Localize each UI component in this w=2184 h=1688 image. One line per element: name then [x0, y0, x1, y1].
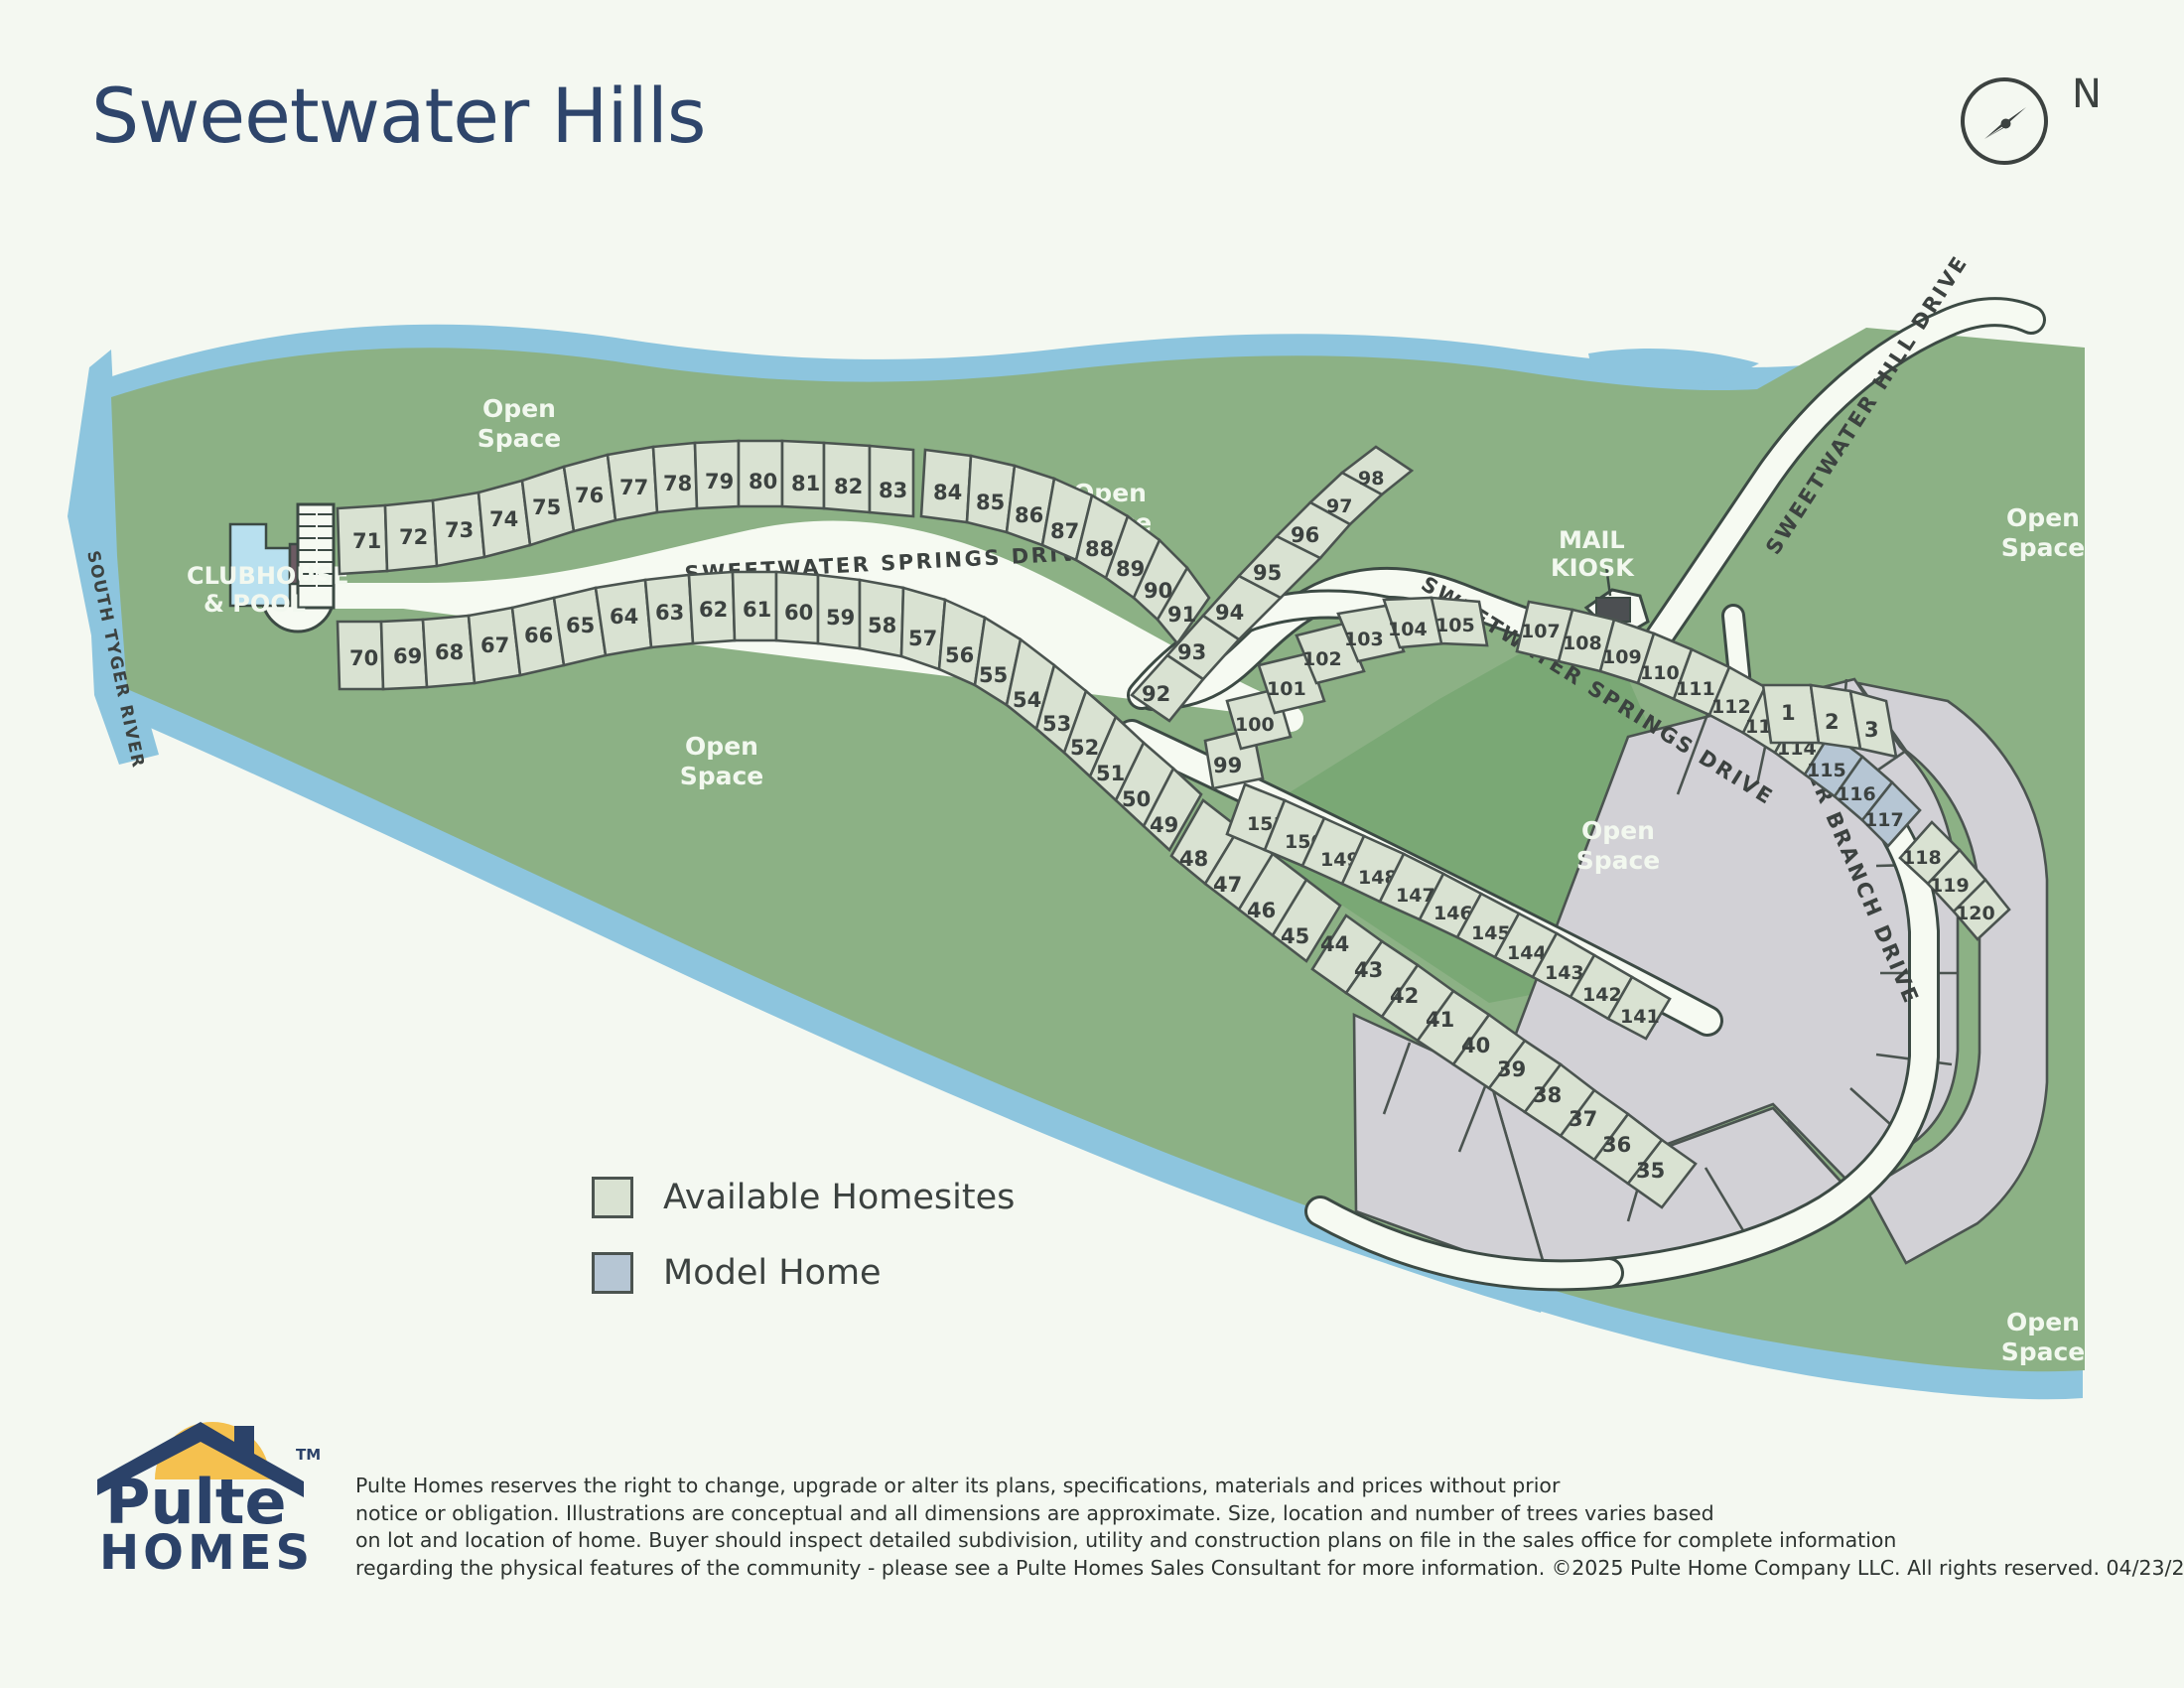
lot-label-2: 2 — [1825, 710, 1840, 734]
lot-label-67: 67 — [480, 633, 509, 657]
lot-label-44: 44 — [1320, 932, 1349, 956]
lot-label-57: 57 — [908, 627, 937, 650]
lot-label-116: 116 — [1837, 783, 1876, 805]
lot-label-65: 65 — [566, 614, 595, 637]
lot-label-58: 58 — [868, 614, 896, 637]
lot-label-95: 95 — [1253, 561, 1282, 585]
lot-label-118: 118 — [1902, 847, 1942, 869]
lot-label-46: 46 — [1247, 899, 1276, 922]
lot-label-69: 69 — [393, 644, 422, 668]
lot-label-63: 63 — [655, 601, 684, 625]
lot-label-83: 83 — [879, 479, 907, 502]
lot-label-105: 105 — [1435, 615, 1475, 636]
lot-label-59: 59 — [826, 606, 855, 630]
lot-label-70: 70 — [349, 646, 378, 670]
lot-label-48: 48 — [1179, 847, 1208, 871]
lot-label-77: 77 — [619, 476, 648, 499]
lot-label-38: 38 — [1533, 1083, 1562, 1107]
lot-label-100: 100 — [1235, 714, 1275, 736]
lot-label-61: 61 — [743, 598, 771, 622]
lot-label-115: 115 — [1807, 760, 1846, 781]
disclaimer-line-1: Pulte Homes reserves the right to change… — [355, 1473, 2132, 1500]
mail-kiosk-label-line1: MAIL — [1559, 526, 1625, 554]
lot-label-141: 141 — [1620, 1006, 1660, 1028]
lot-label-54: 54 — [1013, 688, 1041, 712]
lot-label-111: 111 — [1676, 678, 1715, 700]
logo-wordmark-homes: HOMES — [99, 1525, 314, 1576]
lot-label-71: 71 — [352, 529, 381, 553]
lot-label-109: 109 — [1602, 646, 1642, 668]
disclaimer-line-2: notice or obligation. Illustrations are … — [355, 1500, 2132, 1528]
lot-label-84: 84 — [933, 481, 962, 504]
lot-label-56: 56 — [945, 643, 974, 667]
clubhouse-label-line1: CLUBHOUSE — [187, 562, 349, 590]
lot-label-1: 1 — [1781, 701, 1796, 725]
lot-label-110: 110 — [1640, 662, 1680, 684]
lot-label-117: 117 — [1864, 809, 1904, 831]
legal-disclaimer: Pulte Homes reserves the right to change… — [355, 1473, 2132, 1582]
lot-label-76: 76 — [575, 484, 604, 507]
lot-label-51: 51 — [1096, 762, 1125, 785]
lot-label-42: 42 — [1390, 984, 1419, 1008]
open-space-label-4a: Open — [2006, 503, 2080, 532]
open-space-label-6a: Open — [2006, 1308, 2080, 1336]
lot-label-35: 35 — [1636, 1159, 1665, 1183]
lot-label-72: 72 — [399, 525, 428, 549]
lot-label-119: 119 — [1930, 875, 1970, 897]
lot-label-75: 75 — [532, 495, 561, 519]
lot-label-37: 37 — [1569, 1107, 1597, 1131]
lot-label-66: 66 — [524, 624, 553, 647]
legend-swatch-available-homesites — [592, 1177, 633, 1218]
lot-label-80: 80 — [749, 470, 777, 493]
lot-label-68: 68 — [435, 640, 464, 664]
lot-label-88: 88 — [1085, 537, 1114, 561]
lot-label-55: 55 — [979, 663, 1008, 687]
lot-label-3: 3 — [1864, 718, 1879, 742]
open-space-label-3a: Open — [685, 732, 758, 761]
lot-label-112: 112 — [1711, 696, 1751, 718]
lot-label-89: 89 — [1116, 557, 1145, 581]
legend-label-available-homesites: Available Homesites — [663, 1178, 1015, 1217]
lot-label-97: 97 — [1326, 495, 1352, 517]
lot-label-47: 47 — [1213, 873, 1242, 897]
mail-kiosk-label-line2: KIOSK — [1551, 554, 1635, 582]
open-space-label-1a: Open — [482, 394, 556, 423]
lot-label-87: 87 — [1050, 519, 1079, 543]
lot-label-93: 93 — [1177, 640, 1206, 664]
lot-label-102: 102 — [1302, 648, 1342, 670]
lot-label-36: 36 — [1602, 1133, 1631, 1157]
lot-label-99: 99 — [1213, 754, 1242, 777]
lot-label-52: 52 — [1070, 736, 1099, 760]
lot-label-73: 73 — [445, 518, 474, 542]
lot-label-96: 96 — [1291, 523, 1319, 547]
lot-label-85: 85 — [976, 491, 1005, 514]
legend-row-available: Available Homesites — [592, 1177, 1015, 1218]
lot-label-103: 103 — [1344, 629, 1384, 650]
lot-label-64: 64 — [610, 605, 638, 629]
lot-label-45: 45 — [1281, 924, 1309, 948]
lot-label-92: 92 — [1142, 682, 1170, 706]
lot-label-53: 53 — [1042, 712, 1071, 736]
open-space-label-6b: Space — [2001, 1337, 2086, 1366]
lot-label-62: 62 — [699, 598, 728, 622]
clubhouse-label-line2: & POOL — [204, 590, 306, 618]
lot-label-50: 50 — [1122, 787, 1151, 811]
lot-label-108: 108 — [1563, 633, 1602, 654]
site-map-page: Sweetwater Hills N .os-green{fill:#8cb18… — [0, 0, 2184, 1688]
lot-label-101: 101 — [1267, 678, 1306, 700]
legend-row-model: Model Home — [592, 1252, 1015, 1294]
lot-label-43: 43 — [1354, 958, 1383, 982]
logo-trademark: TM — [296, 1446, 321, 1464]
lot-label-86: 86 — [1015, 503, 1043, 527]
lot-label-40: 40 — [1461, 1034, 1490, 1057]
lot-label-120: 120 — [1956, 903, 1995, 924]
lot-label-91: 91 — [1167, 603, 1196, 627]
open-space-label-5b: Space — [1576, 846, 1661, 875]
lot-label-60: 60 — [784, 601, 813, 625]
lot-label-79: 79 — [705, 470, 734, 493]
open-space-label-5a: Open — [1581, 816, 1655, 845]
lot-label-49: 49 — [1150, 813, 1178, 837]
open-space-label-3b: Space — [680, 762, 764, 790]
mail-kiosk: MAIL KIOSK — [1551, 526, 1635, 582]
community-site-map: .os-green{fill:#8cb185;} .os-green-dk{fi… — [0, 0, 2184, 1688]
lot-label-142: 142 — [1582, 984, 1622, 1006]
lot-label-104: 104 — [1388, 619, 1428, 640]
lot-label-143: 143 — [1545, 962, 1584, 984]
lot-label-41: 41 — [1426, 1008, 1454, 1032]
lot-label-98: 98 — [1358, 468, 1384, 490]
open-space-label-1b: Space — [478, 424, 562, 453]
lot-label-39: 39 — [1497, 1057, 1526, 1081]
legend-swatch-model-home — [592, 1252, 633, 1294]
disclaimer-line-4: regarding the physical features of the c… — [355, 1555, 2132, 1583]
legend-label-model-home: Model Home — [663, 1253, 882, 1293]
open-space-label-4b: Space — [2001, 533, 2086, 562]
lot-label-78: 78 — [663, 472, 692, 495]
lot-label-82: 82 — [834, 475, 863, 498]
lot-label-81: 81 — [791, 472, 820, 495]
pulte-homes-logo: Pulte TM HOMES — [89, 1402, 328, 1576]
lot-label-94: 94 — [1215, 601, 1244, 625]
lot-label-74: 74 — [489, 507, 518, 531]
map-legend: Available Homesites Model Home — [592, 1177, 1015, 1328]
lot-label-107: 107 — [1521, 621, 1561, 642]
disclaimer-line-3: on lot and location of home. Buyer shoul… — [355, 1527, 2132, 1555]
